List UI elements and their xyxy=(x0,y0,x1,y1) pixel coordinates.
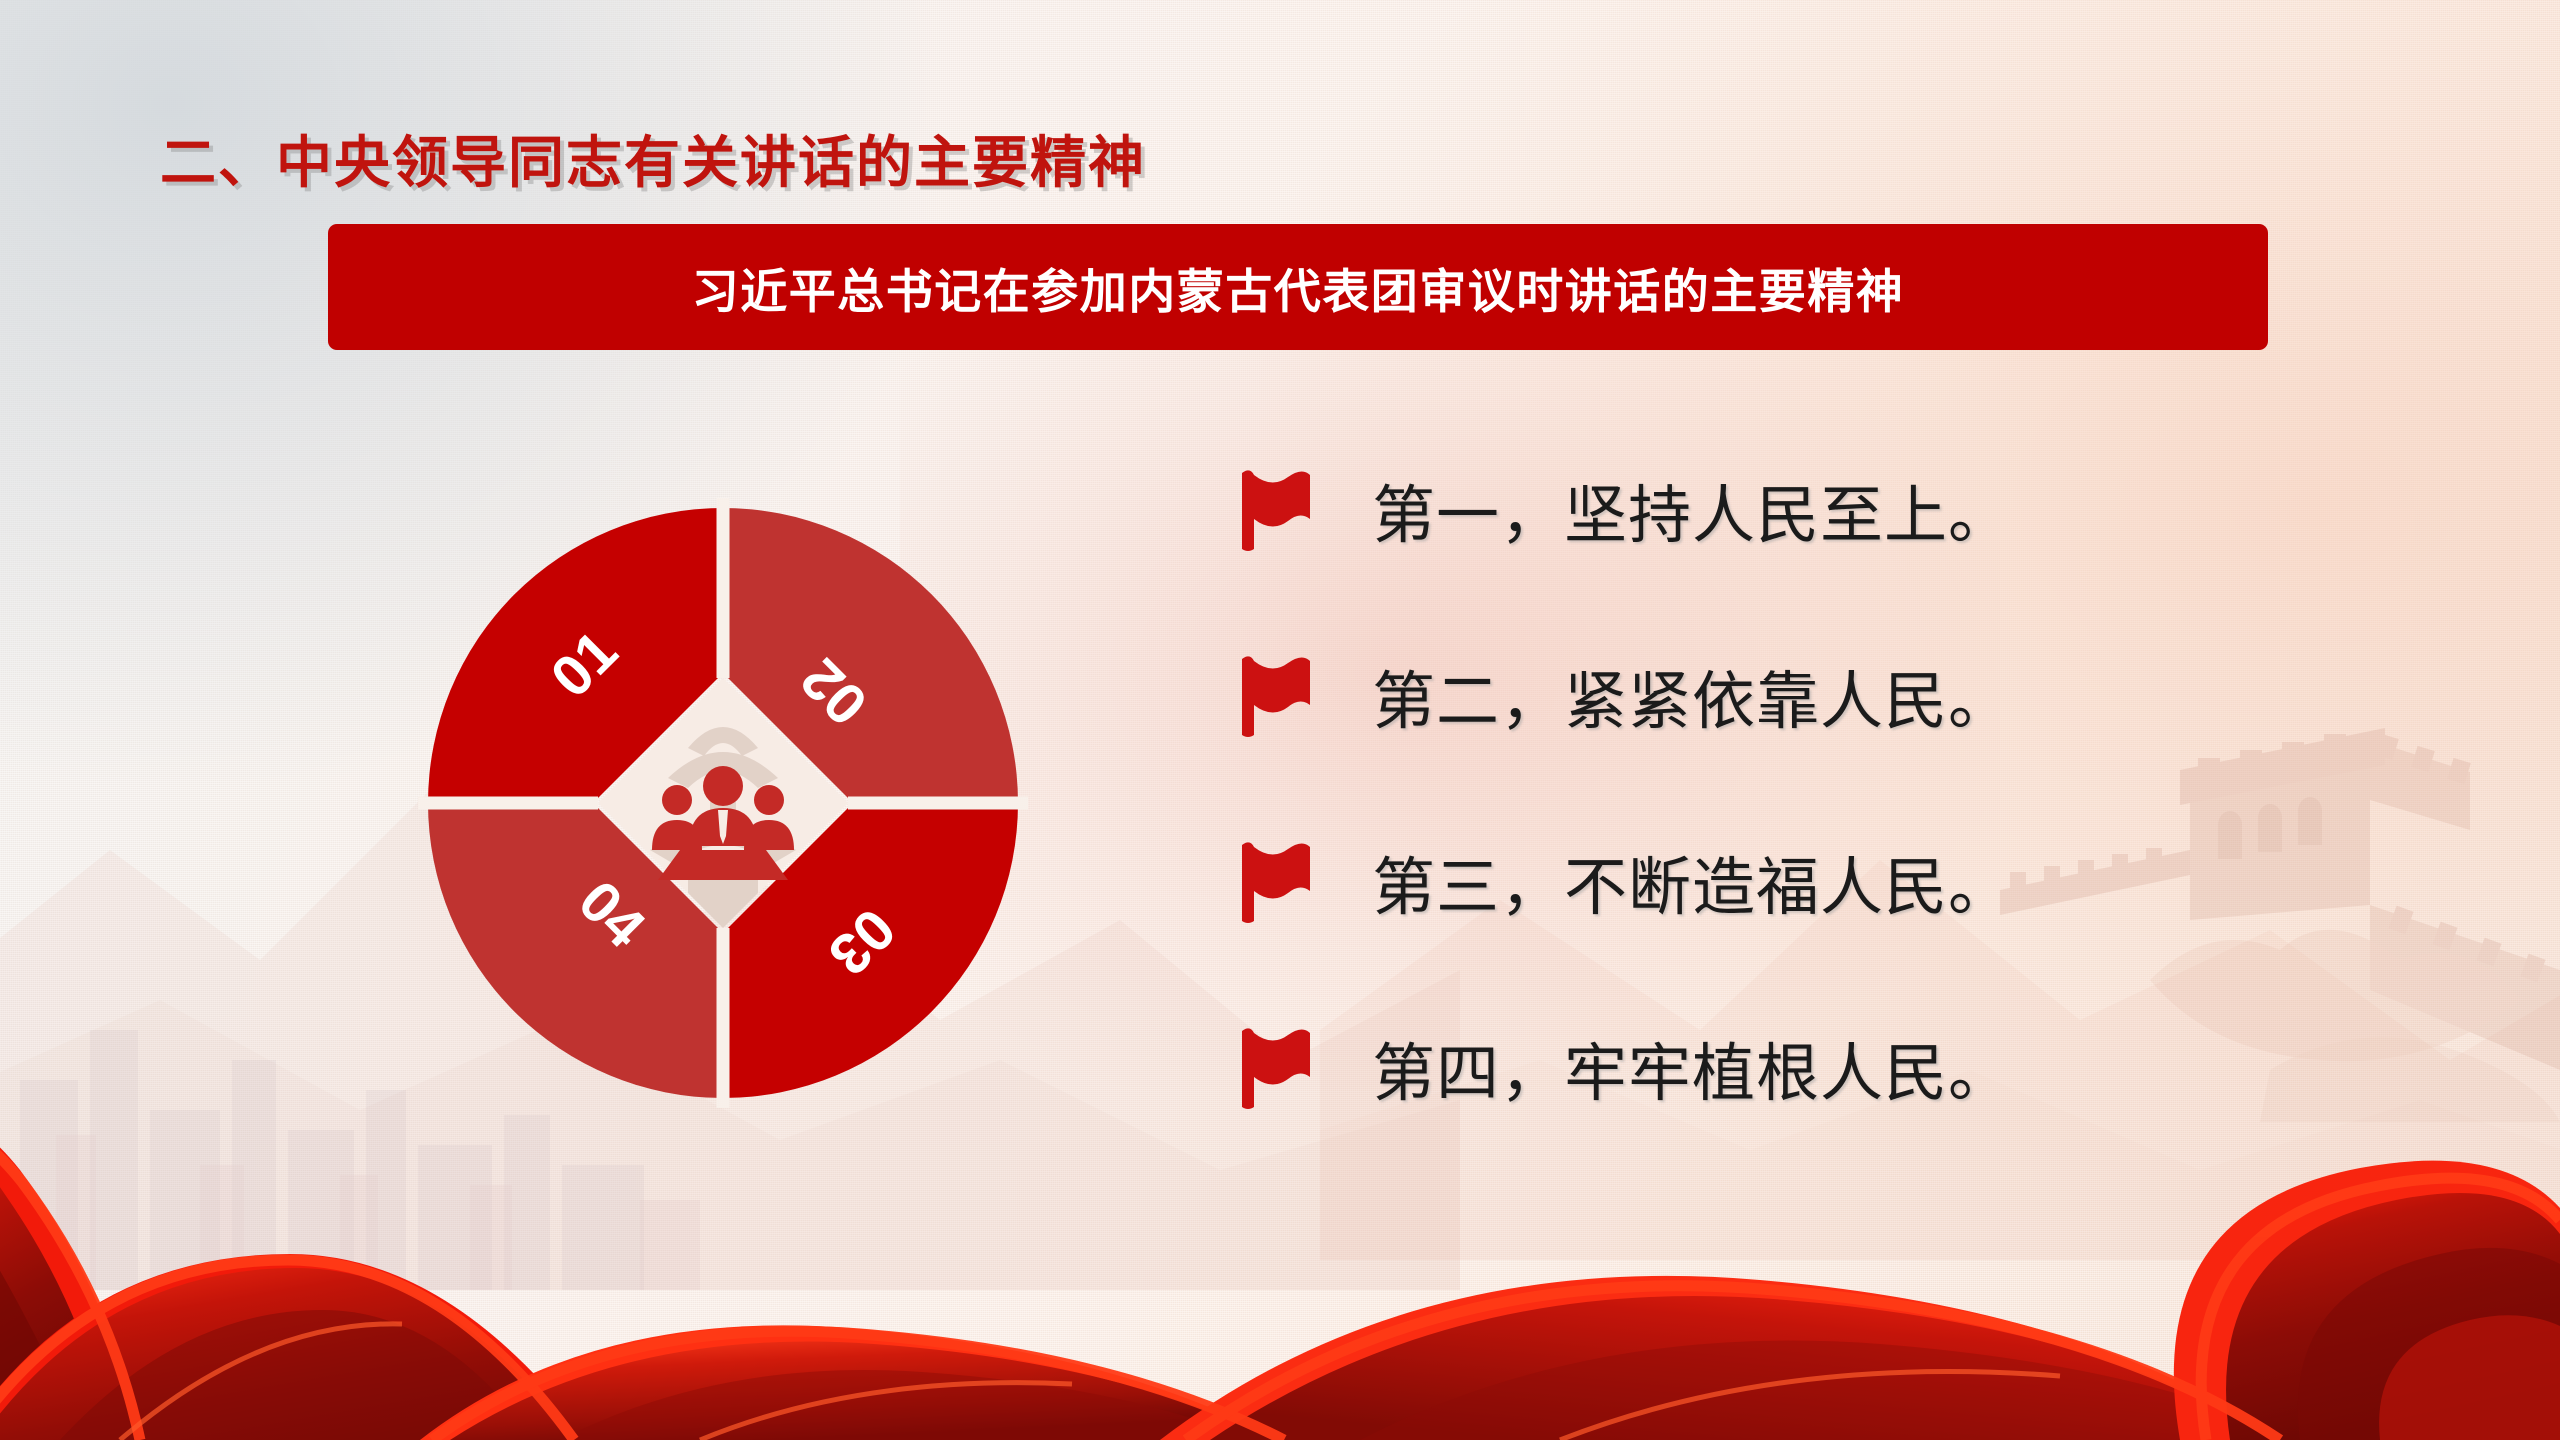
bottom-ribbon-decoration xyxy=(0,1110,2560,1440)
red-flag-icon xyxy=(1238,467,1312,553)
list-item-text: 第四，牢牢植根人民。 xyxy=(1372,1023,2012,1114)
list-item: 第一，坚持人民至上。 xyxy=(1238,448,2388,572)
presentation-slide: 二、中央领导同志有关讲话的主要精神 习近平总书记在参加内蒙古代表团审议时讲话的主… xyxy=(0,0,2560,1440)
key-points-list: 第一，坚持人民至上。 第二，紧紧依靠人民。 第三，不断造福人民。 xyxy=(1238,448,2388,1130)
red-flag-icon xyxy=(1238,653,1312,739)
four-segment-wheel-diagram: 01 02 03 04 xyxy=(418,498,1028,1108)
banner-title: 习近平总书记在参加内蒙古代表团审议时讲话的主要精神 xyxy=(692,253,1905,322)
red-flag-icon xyxy=(1238,839,1312,925)
list-item-text: 第一，坚持人民至上。 xyxy=(1372,465,2012,556)
page-title: 二、中央领导同志有关讲话的主要精神 xyxy=(160,118,1146,199)
list-item: 第二，紧紧依靠人民。 xyxy=(1238,634,2388,758)
red-flag-icon xyxy=(1238,1025,1312,1111)
list-item-text: 第二，紧紧依靠人民。 xyxy=(1372,651,2012,742)
banner-bar: 习近平总书记在参加内蒙古代表团审议时讲话的主要精神 xyxy=(328,224,2268,350)
list-item-text: 第三，不断造福人民。 xyxy=(1372,837,2012,928)
list-item: 第三，不断造福人民。 xyxy=(1238,820,2388,944)
